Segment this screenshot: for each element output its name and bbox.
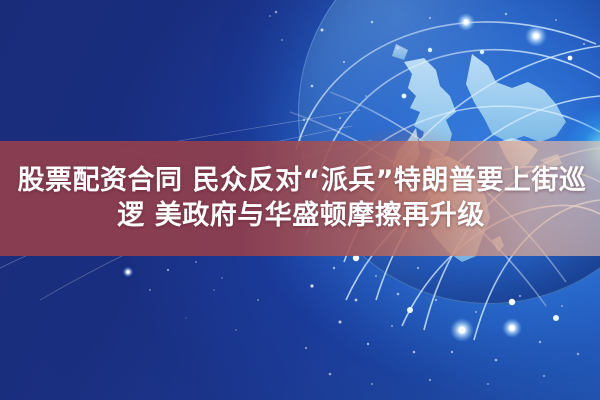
news-banner-image: 股票配资合同 民众反对“派兵”特朗普要上街巡 逻 美政府与华盛顿摩擦再升级	[0, 0, 600, 400]
title-overlay-band	[0, 141, 600, 256]
